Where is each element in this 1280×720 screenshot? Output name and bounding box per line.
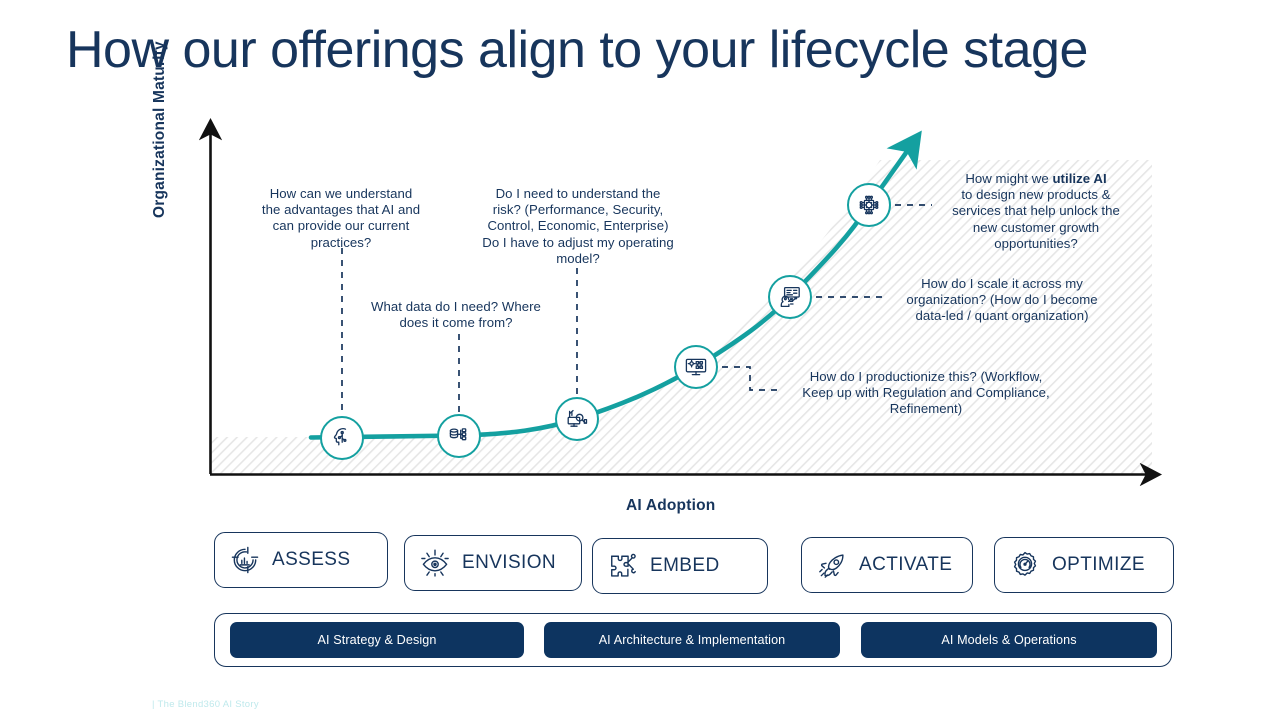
stage-label: ACTIVATE	[859, 554, 952, 576]
curve-node-activate[interactable]	[674, 345, 718, 389]
annotation-line: model?	[462, 251, 694, 267]
curve-node-optimize[interactable]	[847, 183, 891, 227]
stage-button-embed[interactable]: EMBED	[592, 538, 768, 594]
stage-button-activate[interactable]: ACTIVATE	[801, 537, 973, 593]
rocket-icon	[816, 549, 848, 581]
footer-caption: | The Blend360 AI Story	[152, 699, 259, 710]
annotation-line: risk? (Performance, Security,	[462, 202, 694, 218]
ai-chip-icon	[857, 193, 881, 217]
annotation-line: Control, Economic, Enterprise)	[462, 218, 694, 234]
stage-button-assess[interactable]: ASSESS	[214, 532, 388, 588]
services-bar: AI Strategy & Design AI Architecture & I…	[214, 613, 1172, 667]
curve-node-scale[interactable]	[768, 275, 812, 319]
slide-canvas: How our offerings align to your lifecycl…	[0, 0, 1280, 720]
annotation-line: data-led / quant organization)	[890, 308, 1114, 324]
annotation-line: to design new products &	[938, 187, 1134, 203]
annotation-line: new customer growth	[938, 220, 1134, 236]
annotation-embed: Do I need to understand therisk? (Perfor…	[462, 186, 694, 267]
stage-label: OPTIMIZE	[1052, 554, 1145, 576]
stage-label: EMBED	[650, 555, 720, 577]
annotation-line: does it come from?	[360, 315, 552, 331]
annotation-line: can provide our current	[243, 218, 439, 234]
annotation-line: How do I scale it across my	[890, 276, 1114, 292]
assess-pie-icon	[229, 544, 261, 576]
chart-svg	[0, 0, 1280, 720]
service-pill-architecture[interactable]: AI Architecture & Implementation	[544, 622, 840, 658]
annotation-line: How do I productionize this? (Workflow,	[780, 369, 1072, 385]
head-circuit-brain-icon	[330, 426, 354, 450]
annotation-line: Refinement)	[780, 401, 1072, 417]
annotation-scale: How do I scale it across myorganization?…	[890, 276, 1114, 325]
service-label: AI Architecture & Implementation	[599, 633, 786, 647]
service-pill-models[interactable]: AI Models & Operations	[861, 622, 1157, 658]
stage-label: ENVISION	[462, 552, 556, 574]
annotation-line: practices?	[243, 235, 439, 251]
annotation-activate: How do I productionize this? (Workflow,K…	[780, 369, 1072, 418]
annotation-line: Keep up with Regulation and Compliance,	[780, 385, 1072, 401]
annotation-line: How might we utilize AI	[938, 171, 1134, 187]
annotation-assess: How can we understandthe advantages that…	[243, 186, 439, 251]
gear-gauge-icon	[1009, 549, 1041, 581]
leader-line-activate	[722, 367, 782, 390]
chart-magnifier-icon	[565, 407, 589, 431]
annotation-line: the advantages that AI and	[243, 202, 439, 218]
annotation-line: services that help unlock the	[938, 203, 1134, 219]
eye-icon	[419, 547, 451, 579]
stage-button-row: ASSESS ENVISION	[0, 531, 1280, 601]
annotation-line: Do I have to adjust my operating	[462, 235, 694, 251]
annotation-line: organization? (How do I become	[890, 292, 1114, 308]
person-presentation-icon	[778, 285, 802, 309]
annotation-line: opportunities?	[938, 236, 1134, 252]
curve-node-envision[interactable]	[437, 414, 481, 458]
database-nodes-icon	[447, 424, 471, 448]
curve-node-assess[interactable]	[320, 416, 364, 460]
service-label: AI Models & Operations	[941, 633, 1076, 647]
service-pill-strategy[interactable]: AI Strategy & Design	[230, 622, 524, 658]
curve-node-embed[interactable]	[555, 397, 599, 441]
annotation-line: How can we understand	[243, 186, 439, 202]
service-label: AI Strategy & Design	[318, 633, 437, 647]
x-axis-label: AI Adoption	[626, 497, 715, 515]
annotation-line: Do I need to understand the	[462, 186, 694, 202]
page-title: How our offerings align to your lifecycl…	[66, 14, 1226, 86]
annotation-line: What data do I need? Where	[360, 299, 552, 315]
stage-button-optimize[interactable]: OPTIMIZE	[994, 537, 1174, 593]
lifecycle-chart: Organizational Maturity AI Adoption	[0, 0, 1280, 720]
stage-label: ASSESS	[272, 549, 350, 571]
monitor-gear-icon	[684, 355, 708, 379]
stage-button-envision[interactable]: ENVISION	[404, 535, 582, 591]
annotation-envision: What data do I need? Wheredoes it come f…	[360, 299, 552, 331]
annotation-optimize: How might we utilize AIto design new pro…	[938, 171, 1134, 252]
puzzle-icon	[607, 550, 639, 582]
